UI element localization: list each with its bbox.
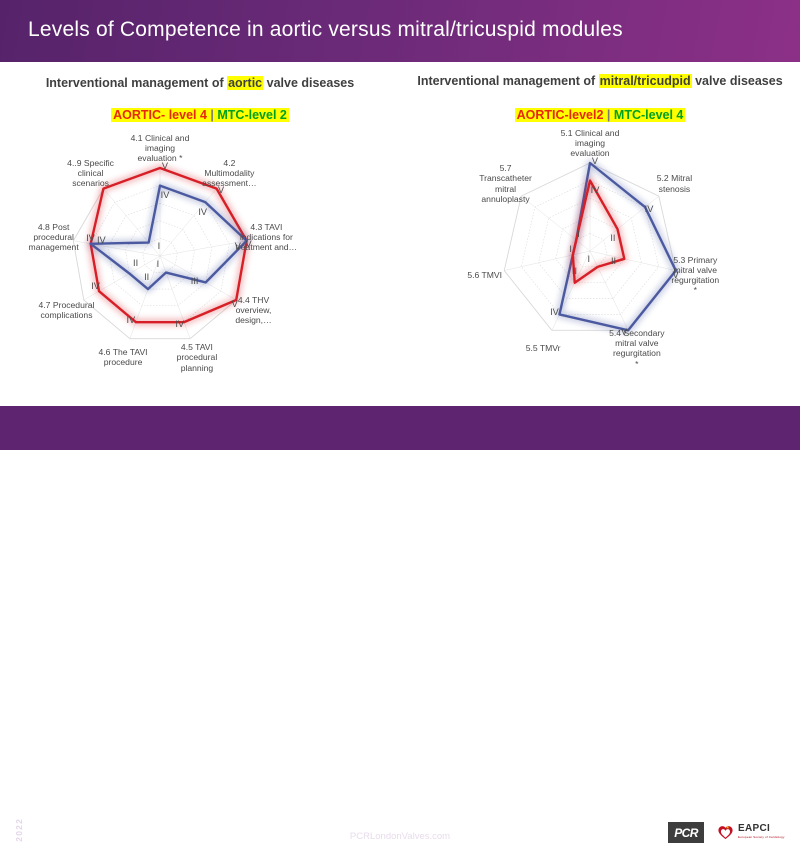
radar-axis-label: 5.7 Transcatheter mitral annuloplasty — [460, 163, 552, 204]
footer-eapci-name: EAPCI — [738, 824, 785, 834]
radar-axis-label: 5.4 Secondary mitral valve regurgitation… — [591, 328, 683, 369]
footer-eapci-text: EAPCI European Society of Cardiology — [738, 824, 785, 839]
radar-value-label: IV — [543, 307, 565, 317]
radar-chart-aortic: 4.1 Clinical and imaging evaluation *4.2… — [0, 66, 400, 396]
radar-value-label: II — [125, 258, 147, 268]
slide-footer: 2022 PCR london valves EAPCI SESSION PCR… — [0, 406, 800, 450]
page-title: Levels of Competence in aortic versus mi… — [28, 18, 623, 42]
radar-value-label: IV — [90, 235, 112, 245]
radar-value-label: II — [603, 256, 625, 266]
radar-value-label: I — [560, 244, 582, 254]
radar-value-label: IV — [192, 207, 214, 217]
footer-eapci-logo: EAPCI European Society of Cardiology — [712, 818, 793, 846]
slide: Levels of Competence in aortic versus mi… — [0, 0, 800, 450]
footer-eapci-subtitle: European Society of Cardiology — [738, 836, 785, 839]
radar-value-label: II — [564, 266, 586, 276]
radar-axis-label: 5.2 Mitral stenosis — [628, 173, 720, 193]
radar-value-label: IV — [169, 319, 191, 329]
radar-value-label: V — [224, 299, 246, 309]
radar-axis-label: 5.3 Primary mitral valve regurgitation * — [649, 255, 741, 296]
radar-axis-label: 4.7 Procedural complications — [20, 300, 112, 320]
radar-value-label: IV — [584, 185, 606, 195]
radar-axis-label: 4.6 The TAVI procedure — [77, 347, 169, 367]
radar-value-label: II — [602, 233, 624, 243]
panel-mitral: Interventional management of mitral/tric… — [400, 66, 800, 396]
radar-value-label: I — [148, 241, 170, 251]
radar-value-label: V — [154, 161, 176, 171]
radar-axis-label: 4.4 THV overview, design,… — [208, 295, 300, 326]
radar-value-label: IV — [85, 281, 107, 291]
radar-value-label: III — [184, 276, 206, 286]
radar-value-label: IV — [638, 204, 660, 214]
footer-pcr-logo: PCR — [668, 822, 704, 843]
radar-value-label: V — [227, 241, 249, 251]
radar-value-label: V — [210, 185, 232, 195]
radar-value-label: II — [136, 272, 158, 282]
radar-chart-mitral: 5.1 Clinical and imaging evaluation5.2 M… — [400, 66, 800, 396]
radar-value-label: I — [578, 254, 600, 264]
radar-value-label: IV — [120, 315, 142, 325]
heart-icon — [717, 824, 734, 841]
radar-axis-label: 5.6 TMVI — [439, 270, 531, 280]
radar-value-label: I — [567, 229, 589, 239]
panel-aortic: Interventional management of aortic valv… — [0, 66, 400, 396]
radar-value-label: I — [147, 259, 169, 269]
radar-axis-label: 5.1 Clinical and imaging evaluation — [544, 128, 636, 159]
radar-value-label: IV — [154, 190, 176, 200]
radar-axis-label: 5.5 TMVr — [497, 343, 589, 353]
slide-header: Levels of Competence in aortic versus mi… — [0, 0, 800, 62]
radar-value-label: V — [665, 270, 687, 280]
radar-value-label: V — [584, 156, 606, 166]
radar-axis-label: 4..9 Specific clinical scenarios — [45, 158, 137, 189]
radar-value-label: V — [613, 327, 635, 337]
